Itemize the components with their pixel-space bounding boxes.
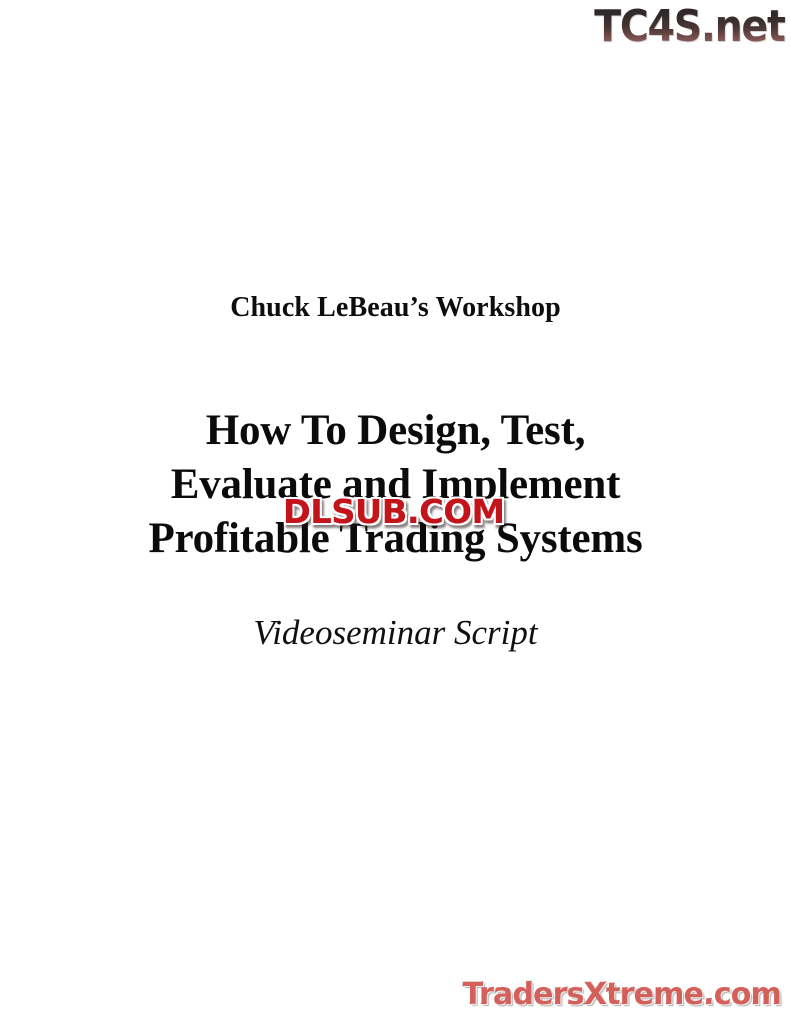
- tradersxtreme-site-logo: TradersXtreme.com: [463, 978, 781, 1012]
- tc4s-site-logo: TC4S.net: [595, 2, 785, 52]
- dlsub-watermark: DLSUB.COM DLSUB.COM: [253, 492, 535, 532]
- title-line-1: How To Design, Test,: [0, 404, 791, 458]
- document-page: TC4S.net Chuck LeBeau’s Workshop How To …: [0, 0, 791, 1024]
- page-subtitle: Videoseminar Script: [0, 612, 791, 654]
- tradersxtreme-logo-text: TradersXtreme.com: [463, 977, 781, 1012]
- page-title: How To Design, Test, Evaluate and Implem…: [0, 404, 791, 566]
- dlsub-watermark-text: DLSUB.COM: [283, 495, 505, 529]
- presenter-workshop-line: Chuck LeBeau’s Workshop: [0, 291, 791, 325]
